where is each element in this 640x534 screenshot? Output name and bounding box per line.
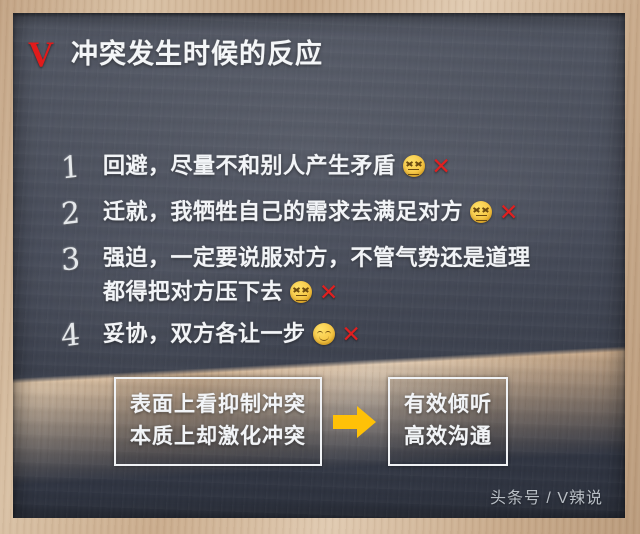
confounded-face-icon — [290, 281, 312, 303]
confounded-face-icon — [470, 201, 492, 223]
list-item-number: 2 — [60, 190, 104, 235]
smiling-face-icon — [313, 323, 335, 345]
list-item-label: 迁就，我牺牲自己的需求去满足对方 — [103, 199, 463, 224]
list-item-text-line: 强迫，一定要说服对方，不管气势还是道理 — [103, 241, 617, 275]
wooden-frame: V 冲突发生时候的反应 1 回避，尽量不和别人产生矛盾✕ 2 迁就，我牺牲自己的… — [0, 0, 640, 534]
problem-callout-box: 表面上看抑制冲突 本质上却激化冲突 — [114, 377, 322, 466]
chalkboard-surface: V 冲突发生时候的反应 1 回避，尽量不和别人产生矛盾✕ 2 迁就，我牺牲自己的… — [13, 13, 625, 518]
list-item-text-line: 迁就，我牺牲自己的需求去满足对方✕ — [103, 195, 617, 229]
cross-mark-icon: ✕ — [319, 281, 339, 304]
list-item-text-line: 妥协，双方各让一步✕ — [103, 317, 617, 351]
cross-mark-icon: ✕ — [342, 323, 362, 346]
list-item: 2 迁就，我牺牲自己的需求去满足对方✕ — [61, 193, 617, 233]
list-item-body: 强迫，一定要说服对方，不管气势还是道理 都得把对方压下去✕ — [103, 239, 617, 309]
list-item-text-line: 回避，尽量不和别人产生矛盾✕ — [103, 149, 617, 183]
cross-mark-icon: ✕ — [499, 201, 519, 224]
page-title: 冲突发生时候的反应 — [71, 41, 323, 68]
list-item-body: 回避，尽量不和别人产生矛盾✕ — [103, 147, 617, 183]
solution-callout-line-2: 高效沟通 — [404, 421, 492, 453]
list-item-text-line-2: 都得把对方压下去✕ — [103, 275, 617, 309]
header: V 冲突发生时候的反应 — [28, 36, 323, 72]
cross-mark-icon: ✕ — [432, 155, 452, 178]
brand-logo-v: V — [28, 36, 54, 72]
list-item-label: 妥协，双方各让一步 — [103, 321, 306, 346]
arrow-container — [322, 405, 388, 439]
problem-callout-line-2: 本质上却激化冲突 — [130, 421, 306, 453]
list-item-number: 4 — [60, 312, 104, 357]
list-item-label: 回避，尽量不和别人产生矛盾 — [103, 153, 396, 178]
list-item-label: 强迫，一定要说服对方，不管气势还是道理 — [103, 245, 531, 270]
list-item-body: 迁就，我牺牲自己的需求去满足对方✕ — [103, 193, 617, 229]
list-item: 3 强迫，一定要说服对方，不管气势还是道理 都得把对方压下去✕ — [61, 239, 617, 309]
conclusion-row: 表面上看抑制冲突 本质上却激化冲突 有效倾听 高效沟通 — [114, 377, 508, 466]
problem-callout-line-1: 表面上看抑制冲突 — [130, 389, 306, 421]
list-item-body: 妥协，双方各让一步✕ — [103, 315, 617, 351]
list-item-number: 1 — [60, 144, 104, 189]
list-item-number: 3 — [60, 236, 104, 281]
list-item: 4 妥协，双方各让一步✕ — [61, 315, 617, 355]
list-item-label-2: 都得把对方压下去 — [103, 279, 283, 304]
solution-callout-box: 有效倾听 高效沟通 — [388, 377, 508, 466]
arrow-right-icon — [333, 405, 377, 439]
list-item: 1 回避，尽量不和别人产生矛盾✕ — [61, 147, 617, 187]
confounded-face-icon — [403, 155, 425, 177]
watermark: 头条号 / V辣说 — [490, 484, 603, 508]
solution-callout-line-1: 有效倾听 — [404, 389, 492, 421]
reaction-list: 1 回避，尽量不和别人产生矛盾✕ 2 迁就，我牺牲自己的需求去满足对方✕ — [61, 147, 617, 361]
